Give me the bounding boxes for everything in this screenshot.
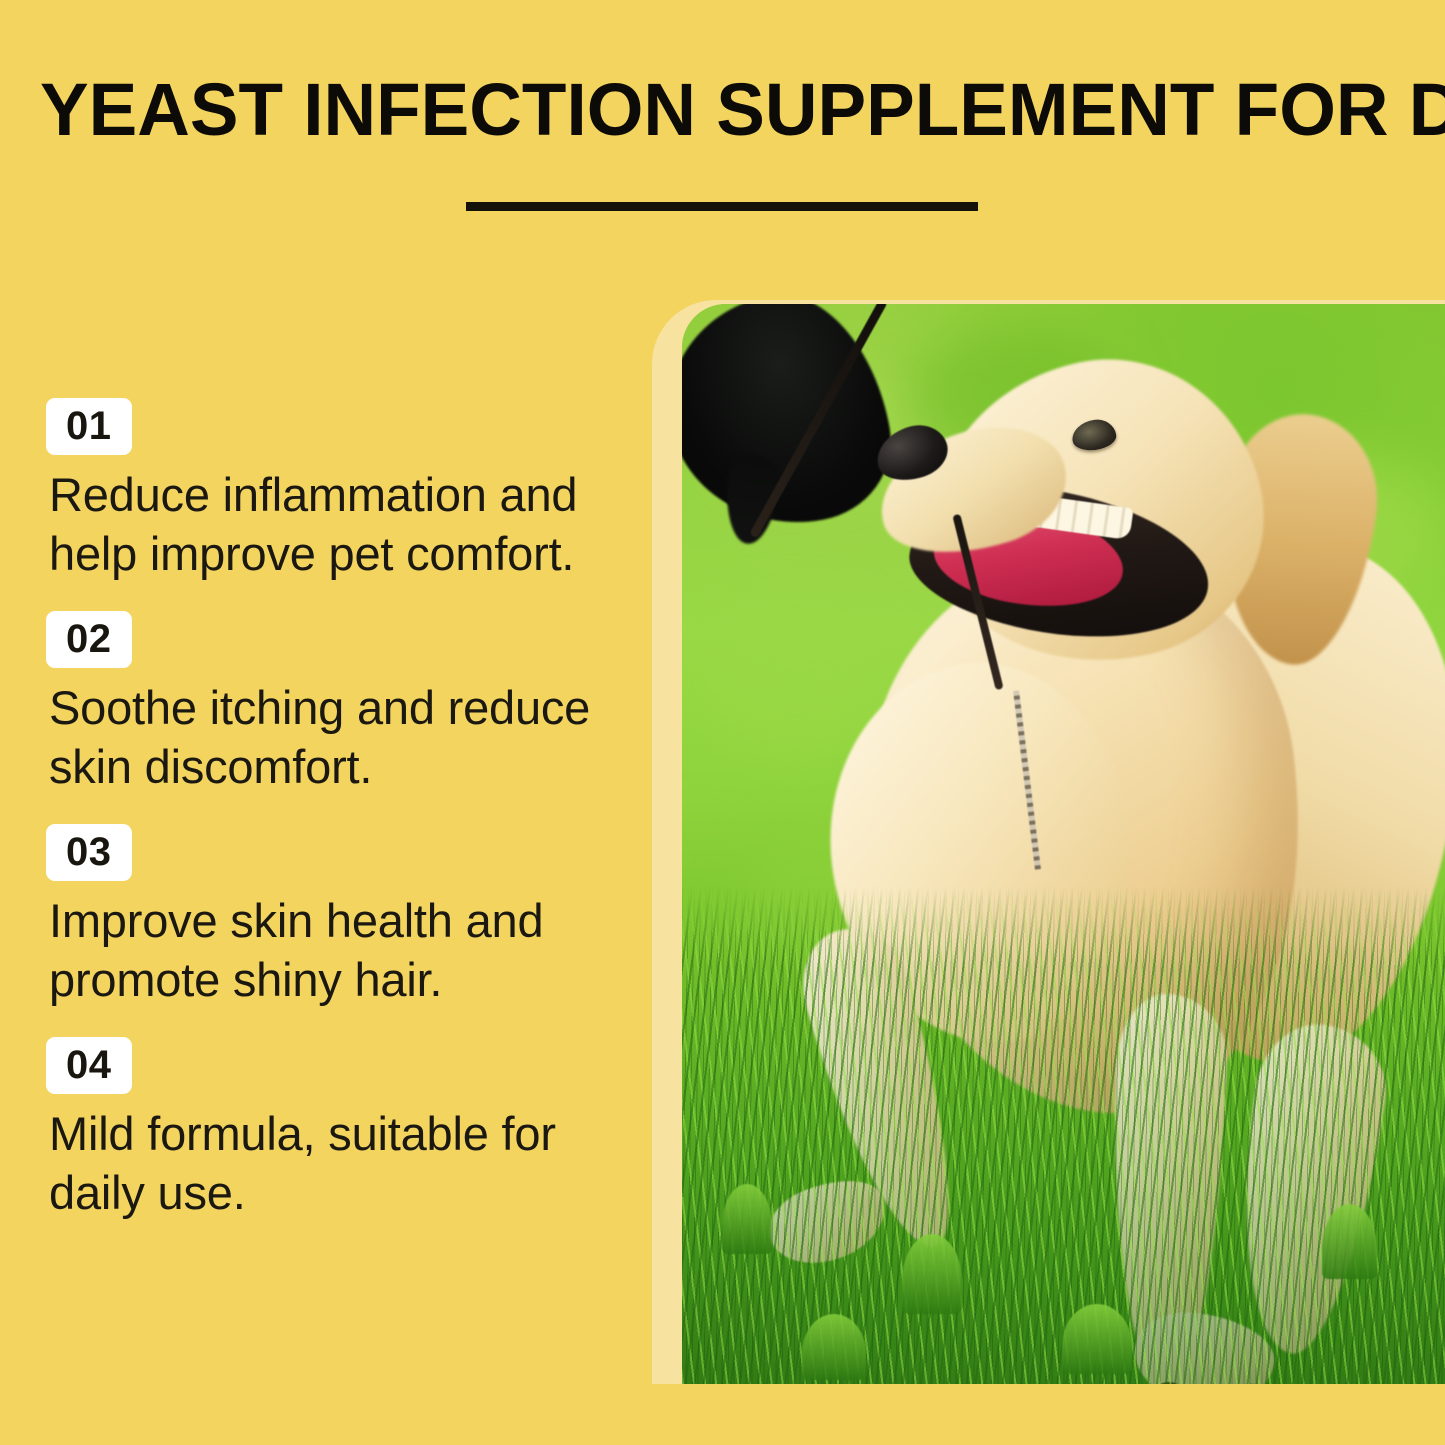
feature-text: Improve skin health and promote shiny ha… [49,891,609,1009]
feature-text: Mild formula, suitable for daily use. [49,1104,609,1222]
feature-number-badge: 04 [46,1037,132,1094]
feature-number-badge: 01 [46,398,132,455]
list-item: 02 Soothe itching and reduce skin discom… [0,611,640,796]
feature-text: Reduce inflammation and help improve pet… [49,465,609,583]
feature-number-badge: 02 [46,611,132,668]
grass-foreground [682,887,1445,1384]
list-item: 01 Reduce inflammation and help improve … [0,398,640,583]
feature-text: Soothe itching and reduce skin discomfor… [49,678,609,796]
list-item: 04 Mild formula, suitable for daily use. [0,1037,640,1222]
dog-photo [682,304,1445,1384]
page-title: YEAST INFECTION SUPPLEMENT FOR DOGS [40,70,1387,150]
list-item: 03 Improve skin health and promote shiny… [0,824,640,1009]
title-divider [466,202,978,211]
feature-list: 01 Reduce inflammation and help improve … [0,398,640,1250]
feature-number-badge: 03 [46,824,132,881]
leash-strap [749,304,888,539]
poster-root: YEAST INFECTION SUPPLEMENT FOR DOGS 01 R… [0,0,1445,1445]
